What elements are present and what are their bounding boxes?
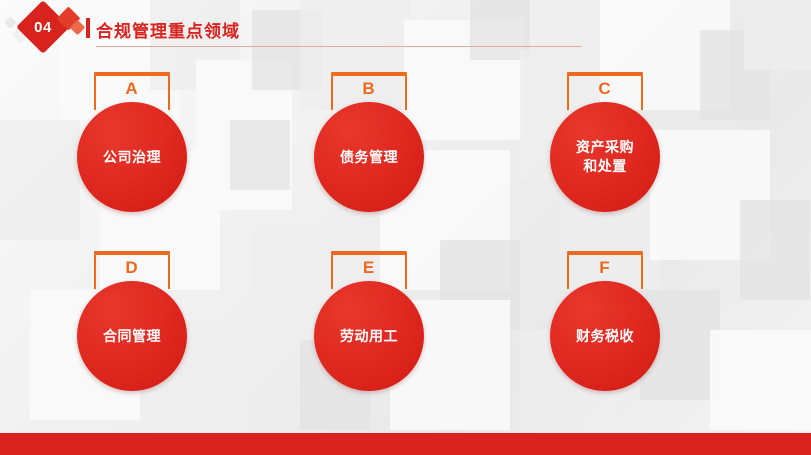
bracket-stem-right-icon — [405, 255, 407, 289]
bracket-cap-icon — [567, 251, 643, 255]
topic-label: 财务税收 — [576, 327, 634, 346]
bracket-stem-left-icon — [567, 255, 569, 289]
bracket-stem-right-icon — [168, 76, 170, 110]
slide-canvas: 04 合规管理重点领域 A 公司治理 B 债务管理 C 资产采购 和处置 — [0, 0, 811, 455]
topic-letter: D — [125, 258, 138, 278]
topic-letter: A — [125, 79, 138, 99]
topic-label: 公司治理 — [103, 148, 161, 167]
topic-circle[interactable]: 债务管理 — [314, 102, 424, 212]
topic-label: 资产采购 和处置 — [576, 138, 634, 176]
title-divider — [96, 46, 582, 47]
bracket-stem-right-icon — [168, 255, 170, 289]
bracket-cap-icon — [567, 72, 643, 76]
diamond-decor-icon — [4, 16, 17, 29]
topic-item-e[interactable]: E 劳动用工 — [279, 251, 459, 431]
topic-label: 债务管理 — [340, 148, 398, 167]
topic-item-c[interactable]: C 资产采购 和处置 — [515, 72, 695, 252]
bracket-cap-icon — [331, 72, 407, 76]
bracket-stem-left-icon — [94, 255, 96, 289]
topic-item-f[interactable]: F 财务税收 — [515, 251, 695, 431]
bg-square — [740, 200, 810, 300]
topic-letter: F — [599, 258, 610, 278]
title-accent-bar — [86, 18, 90, 38]
topic-label: 劳动用工 — [340, 327, 398, 346]
section-number-badge: 04 — [6, 2, 92, 54]
topic-letter: C — [598, 79, 611, 99]
bracket-stem-right-icon — [641, 76, 643, 110]
bracket-cap-icon — [331, 251, 407, 255]
section-number: 04 — [24, 8, 62, 46]
bracket-stem-right-icon — [405, 76, 407, 110]
topic-label: 合同管理 — [103, 327, 161, 346]
bg-square — [710, 330, 811, 430]
topic-letter: B — [362, 79, 375, 99]
topic-circle[interactable]: 资产采购 和处置 — [550, 102, 660, 212]
page-title: 合规管理重点领域 — [96, 17, 240, 42]
bracket-cap-icon — [94, 251, 170, 255]
bracket-stem-left-icon — [331, 76, 333, 110]
topic-circle[interactable]: 合同管理 — [77, 281, 187, 391]
topic-letter: E — [363, 258, 375, 278]
topic-item-a[interactable]: A 公司治理 — [42, 72, 222, 252]
topic-item-b[interactable]: B 债务管理 — [279, 72, 459, 252]
topic-circle[interactable]: 劳动用工 — [314, 281, 424, 391]
footer-bar — [0, 433, 811, 455]
topic-circle[interactable]: 财务税收 — [550, 281, 660, 391]
bracket-stem-left-icon — [94, 76, 96, 110]
bg-square — [744, 0, 811, 70]
topic-item-d[interactable]: D 合同管理 — [42, 251, 222, 431]
bracket-stem-right-icon — [641, 255, 643, 289]
bracket-stem-left-icon — [567, 76, 569, 110]
bracket-cap-icon — [94, 72, 170, 76]
bracket-stem-left-icon — [331, 255, 333, 289]
topic-circle[interactable]: 公司治理 — [77, 102, 187, 212]
